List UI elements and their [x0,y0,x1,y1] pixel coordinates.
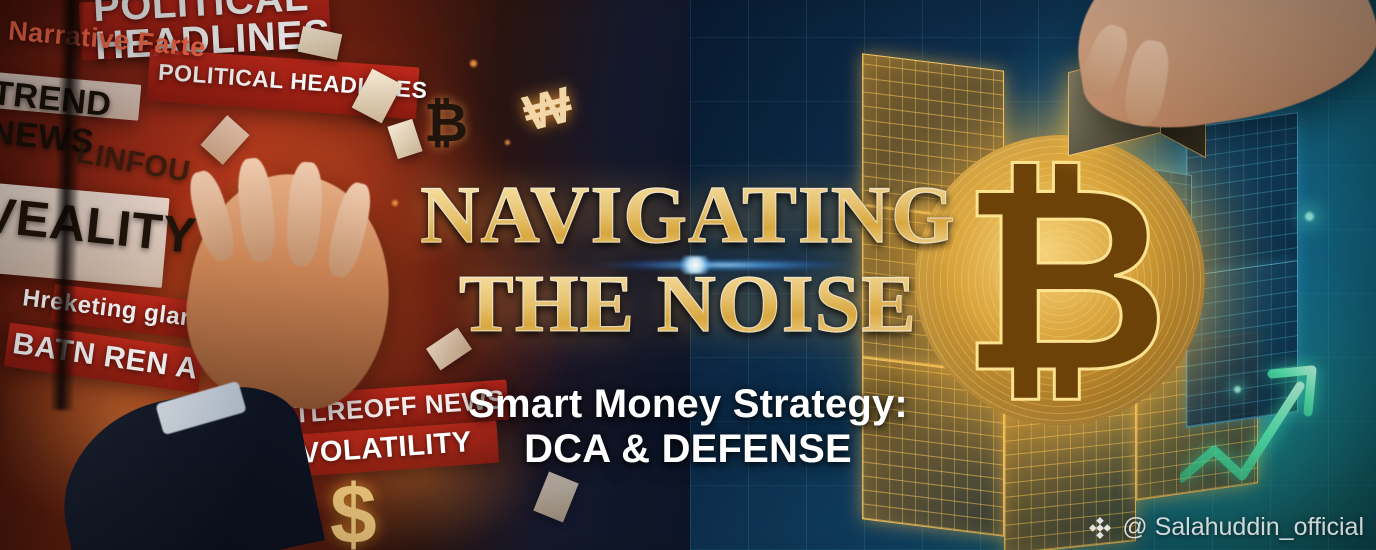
watermark: @ Salahuddin_official [1087,513,1364,542]
currency-symbol-bitcoin: ₿ [424,92,468,154]
ember-spark [505,140,510,145]
watermark-handle: @ Salahuddin_official [1122,513,1364,542]
bitcoin-symbol-icon: ₿ [955,150,1175,410]
ember-spark [560,300,565,305]
lens-flare [560,248,890,282]
ember-spark [392,200,398,206]
grid-sparkle [1234,386,1241,393]
binance-logo-icon [1087,515,1113,541]
lens-flare-core [678,256,712,274]
thumbnail-banner: POLITICAL HEADLINES POLITICAL HEADLINES … [0,0,1376,550]
currency-symbol-dollar: $ [330,466,377,550]
grid-sparkle [1305,212,1314,221]
ember-spark [470,60,477,67]
